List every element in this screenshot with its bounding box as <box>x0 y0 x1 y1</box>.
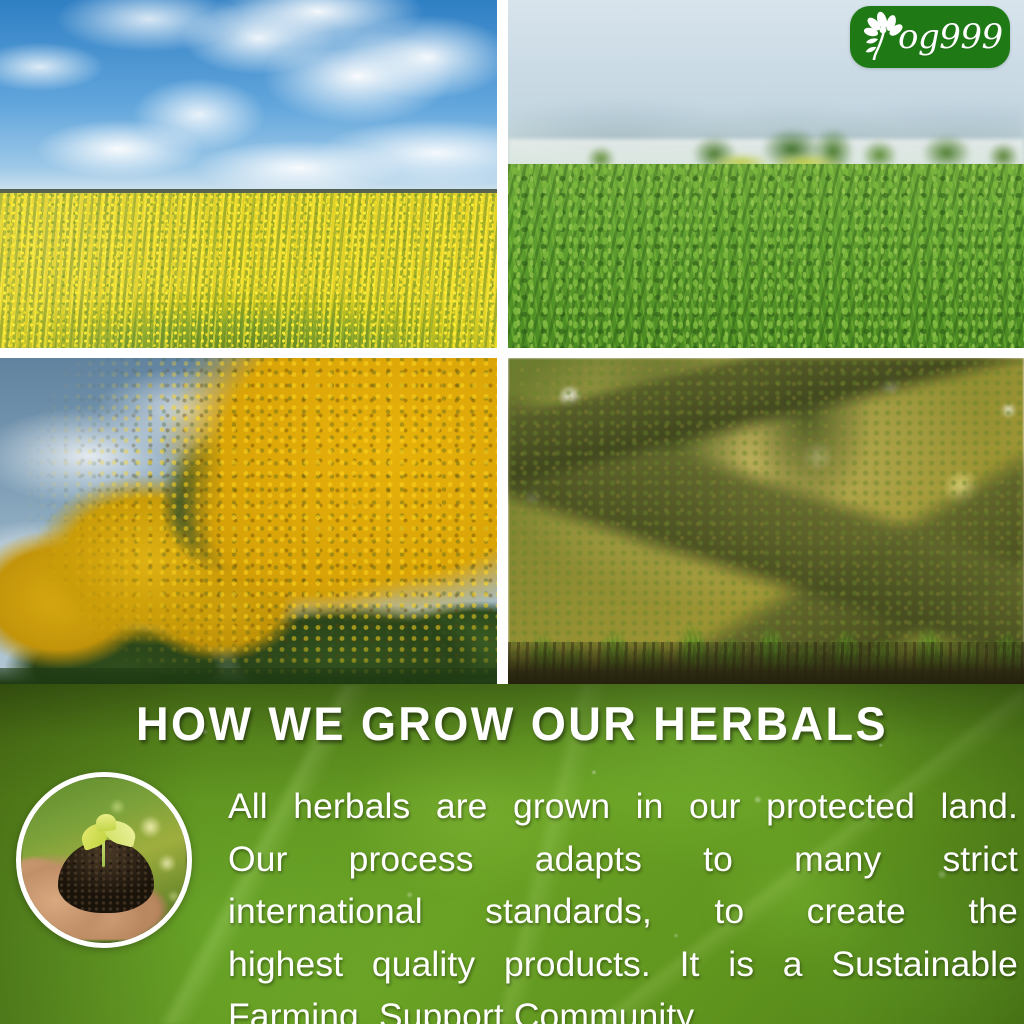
promo-graphic: og999 HOW WE GROW OUR HERBALS All herbal… <box>0 0 1024 1024</box>
sky-with-clouds <box>0 0 497 191</box>
brand-logo[interactable]: og999 <box>850 6 1010 68</box>
rainforest-ferns-panel <box>508 358 1024 684</box>
paragraph-line: international standards, to create the <box>228 885 1018 938</box>
canola-field-panel <box>0 0 497 348</box>
yellow-blossom-trees-panel <box>0 358 497 684</box>
paragraph-line: All herbals are grown in our protected l… <box>228 780 1018 833</box>
info-banner: HOW WE GROW OUR HERBALS All herbals are … <box>0 684 1024 1024</box>
paragraph-line: highest quality products. It is a Sustai… <box>228 938 1018 991</box>
rainforest-ferns-image <box>508 358 1024 684</box>
canola-field-image <box>0 0 497 348</box>
paragraph-line: Farming, Support Community. <box>228 990 1018 1024</box>
paragraph-line: Our process adapts to many strict <box>228 833 1018 886</box>
leaf-texture <box>508 164 1024 348</box>
seedling-leaf-top <box>95 813 116 831</box>
grass-ground <box>0 668 497 684</box>
banner-heading: HOW WE GROW OUR HERBALS <box>20 700 1003 747</box>
photo-collage: og999 <box>0 0 1024 684</box>
forest-floor <box>508 642 1024 684</box>
logo-wordmark: og999 <box>898 20 1003 54</box>
yellow-blossom-trees-image <box>0 358 497 684</box>
banner-paragraph: All herbals are grown in our protected l… <box>228 780 1018 1024</box>
seedling-photo <box>16 772 192 948</box>
blossom-texture <box>0 358 497 684</box>
flower-texture <box>0 193 497 348</box>
